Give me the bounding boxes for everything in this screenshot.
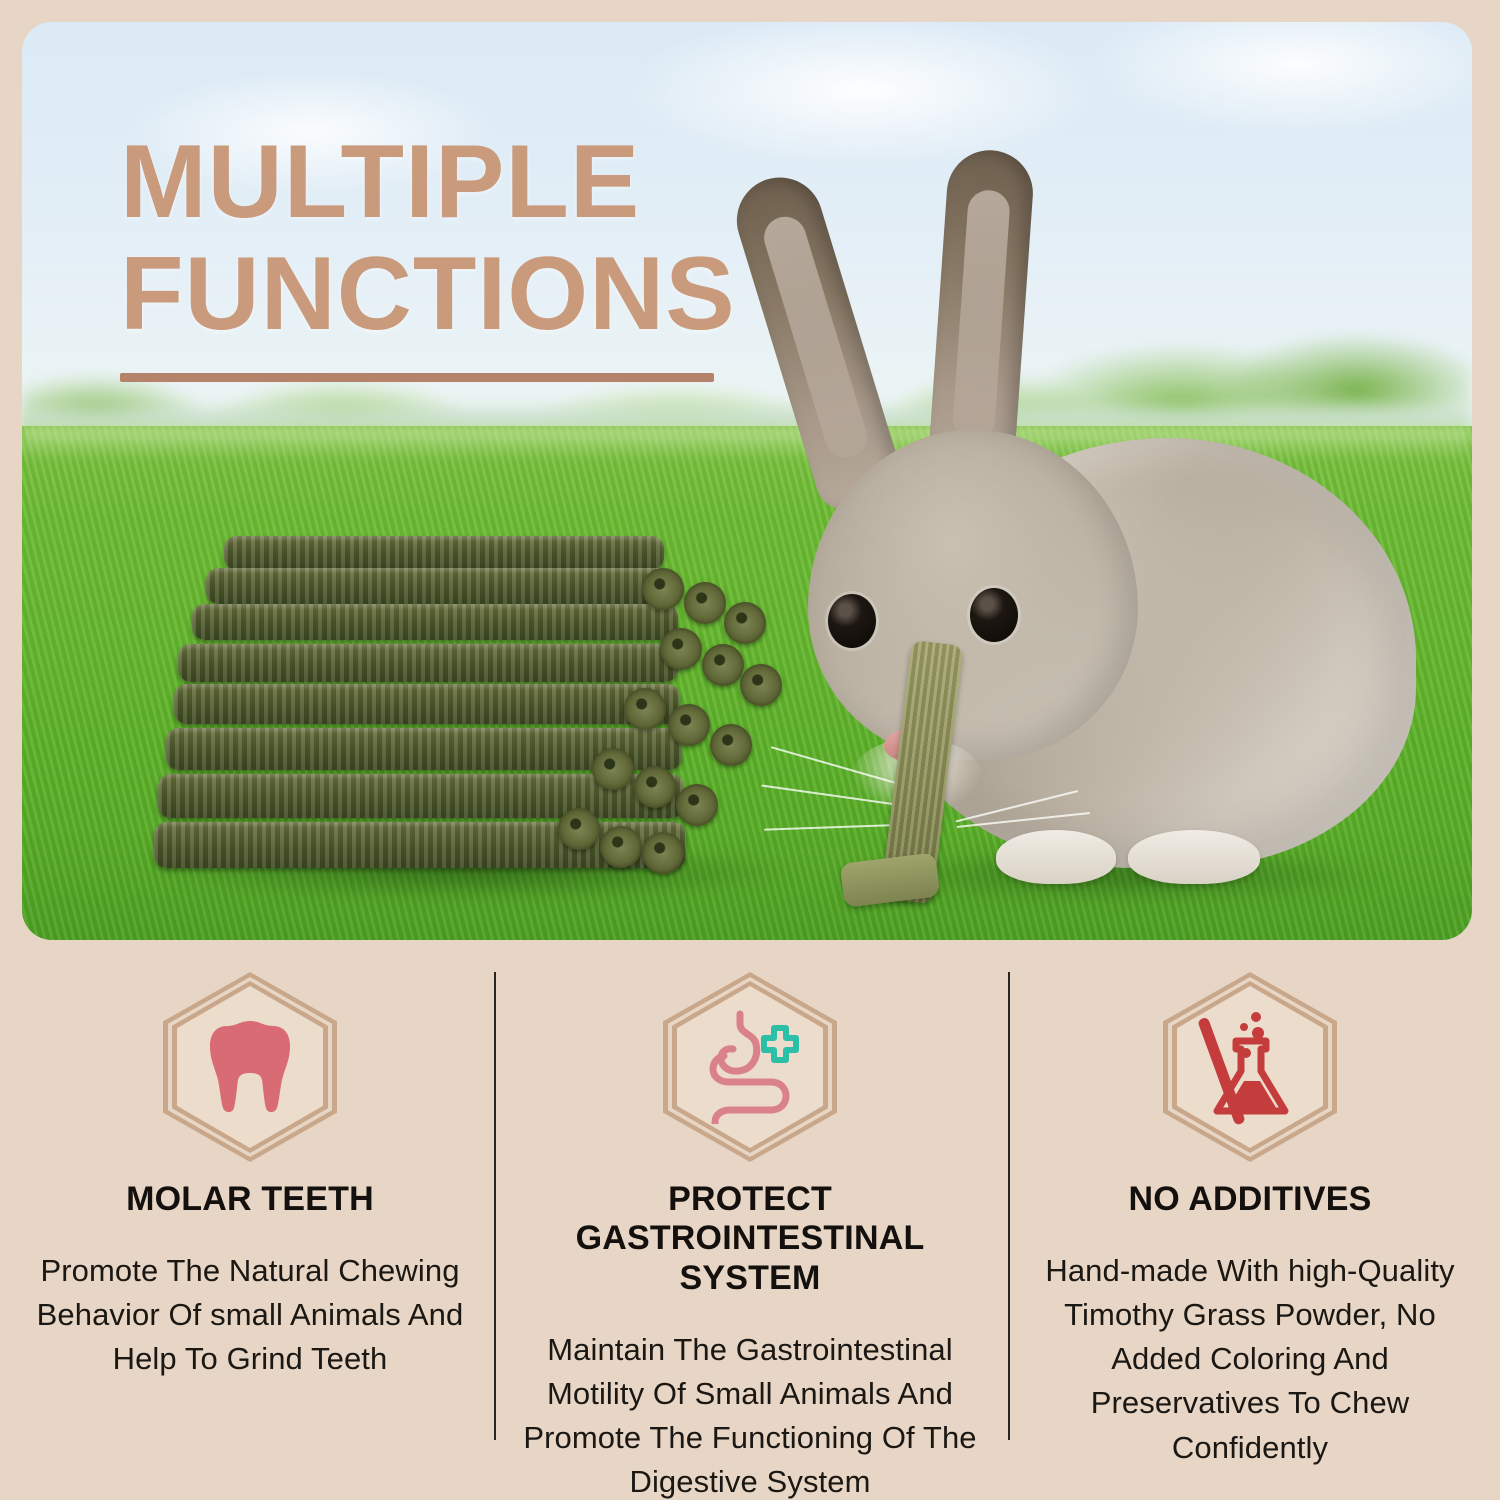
hay-stick-end [600, 826, 642, 868]
headline-line-2: FUNCTIONS [120, 238, 736, 350]
feature-body: Maintain The Gastrointestinal Motility O… [518, 1328, 982, 1500]
feature-badge-2 [663, 972, 837, 1162]
rabbit-ear-inner [952, 189, 1011, 441]
hay-stick [192, 604, 678, 640]
feature-title: MOLAR TEETH [18, 1180, 482, 1219]
hay-stick-end [710, 724, 752, 766]
feature-column-molar-teeth: MOLAR TEETH Promote The Natural Chewing … [0, 958, 500, 1478]
rabbit-paw [1128, 830, 1260, 884]
hay-stick-pile [172, 532, 792, 892]
rabbit-paw [996, 830, 1116, 884]
hay-stick-end [676, 784, 718, 826]
rabbit-eye-left [828, 594, 876, 648]
hay-stick [206, 568, 674, 604]
hay-stick-end [702, 644, 744, 686]
rabbit-eye-right [970, 588, 1018, 642]
hay-stick-end [624, 688, 666, 730]
hay-stick-end [592, 748, 634, 790]
hay-stick [224, 536, 664, 570]
feature-title: NO ADDITIVES [1018, 1180, 1482, 1219]
rabbit-ear-inner [759, 212, 872, 463]
feature-title: PROTECT GASTROINTESTINAL SYSTEM [518, 1180, 982, 1298]
no-chemicals-flask-icon [1163, 972, 1337, 1162]
rabbit-photo-subject [756, 90, 1416, 910]
hay-stick-end [660, 628, 702, 670]
headline-underline [120, 373, 714, 382]
feature-row: MOLAR TEETH Promote The Natural Chewing … [0, 958, 1500, 1478]
tooth-icon [163, 972, 337, 1162]
hero-headline: MULTIPLE FUNCTIONS [120, 126, 736, 382]
feature-badge-1 [163, 972, 337, 1162]
feature-column-gastrointestinal: PROTECT GASTROINTESTINAL SYSTEM Maintain… [500, 958, 1000, 1478]
feature-column-no-additives: NO ADDITIVES Hand-made With high-Quality… [1000, 958, 1500, 1478]
hay-stick-end [642, 568, 684, 610]
hay-stick-end [634, 766, 676, 808]
hay-stick-end [668, 704, 710, 746]
feature-body: Promote The Natural Chewing Behavior Of … [18, 1249, 482, 1381]
hay-stick [174, 684, 680, 724]
hero-photo-panel: MULTIPLE FUNCTIONS [22, 22, 1472, 940]
hay-stick-end [642, 832, 684, 874]
feature-badge-3 [1163, 972, 1337, 1162]
feature-body: Hand-made With high-Quality Timothy Gras… [1018, 1249, 1482, 1469]
hay-stick [178, 644, 678, 682]
headline-line-1: MULTIPLE [120, 126, 736, 238]
hay-stick-end [684, 582, 726, 624]
rabbit-whisker [764, 824, 896, 831]
hay-stick-end [558, 808, 600, 850]
stomach-intestine-icon [663, 972, 837, 1162]
